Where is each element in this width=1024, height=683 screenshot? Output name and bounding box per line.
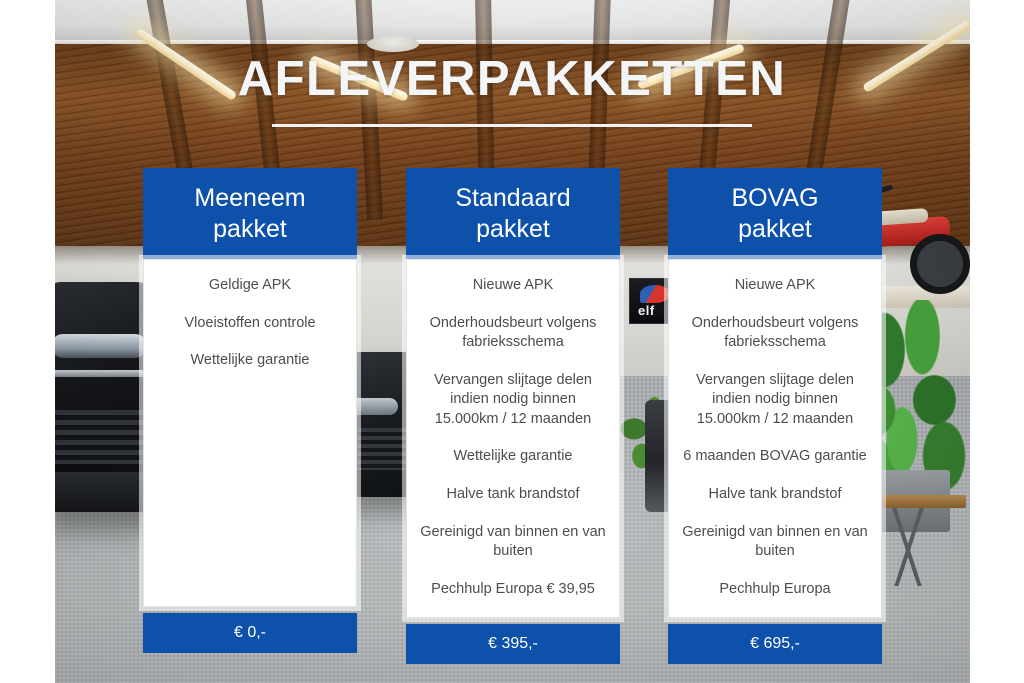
feature-item: Onderhoudsbeurt volgens fabrieksschema: [681, 314, 869, 353]
feature-item: Nieuwe APK: [681, 276, 869, 296]
card-body-standaard: Nieuwe APK Onderhoudsbeurt volgens fabri…: [406, 259, 620, 618]
elf-sign-text: elf: [638, 303, 655, 318]
card-header-standaard: Standaard pakket: [406, 168, 620, 259]
feature-item: Geldige APK: [156, 276, 344, 296]
feature-item: Gereinigd van binnen en van buiten: [681, 523, 869, 562]
card-title-line1: Meeneem: [194, 184, 305, 212]
feature-item: Pechhulp Europa € 39,95: [419, 580, 607, 600]
feature-item: Nieuwe APK: [419, 276, 607, 296]
elf-logo-icon: [640, 285, 670, 303]
feature-item: Halve tank brandstof: [681, 485, 869, 505]
feature-item: Wettelijke garantie: [156, 351, 344, 371]
hanging-lamp-icon: [367, 36, 419, 52]
card-header-meeneem: Meeneem pakket: [143, 168, 357, 259]
feature-item: Vloeistoffen controle: [156, 314, 344, 334]
card-body-meeneem: Geldige APK Vloeistoffen controle Wettel…: [143, 259, 357, 607]
card-title-line2: pakket: [738, 215, 812, 243]
price-meeneem[interactable]: € 0,-: [143, 613, 357, 653]
feature-item: Gereinigd van binnen en van buiten: [419, 523, 607, 562]
price-standaard[interactable]: € 395,-: [406, 624, 620, 664]
package-card-meeneem[interactable]: Meeneem pakket Geldige APK Vloeistoffen …: [143, 168, 357, 653]
feature-item: Onderhoudsbeurt volgens fabrieksschema: [419, 314, 607, 353]
package-card-bovag[interactable]: BOVAG pakket Nieuwe APK Onderhoudsbeurt …: [668, 168, 882, 664]
feature-item: Wettelijke garantie: [419, 447, 607, 467]
card-header-bovag: BOVAG pakket: [668, 168, 882, 259]
feature-item: 6 maanden BOVAG garantie: [681, 447, 869, 467]
card-title-line1: Standaard: [455, 184, 570, 212]
page-root: elf AFLEVERPAKKETTEN Meeneem pakket: [0, 0, 1024, 683]
card-title-line1: BOVAG: [731, 184, 818, 212]
headlight-icon: [55, 334, 147, 358]
card-title-line2: pakket: [476, 215, 550, 243]
price-bovag[interactable]: € 695,-: [668, 624, 882, 664]
card-title-line2: pakket: [213, 215, 287, 243]
feature-item: Vervangen slijtage delen indien nodig bi…: [419, 371, 607, 430]
feature-item: Halve tank brandstof: [419, 485, 607, 505]
card-body-bovag: Nieuwe APK Onderhoudsbeurt volgens fabri…: [668, 259, 882, 618]
feature-item: Vervangen slijtage delen indien nodig bi…: [681, 371, 869, 430]
package-card-standaard[interactable]: Standaard pakket Nieuwe APK Onderhoudsbe…: [406, 168, 620, 664]
feature-item: Pechhulp Europa: [681, 580, 869, 600]
grille: [55, 410, 155, 464]
moped-wheel: [910, 234, 970, 294]
